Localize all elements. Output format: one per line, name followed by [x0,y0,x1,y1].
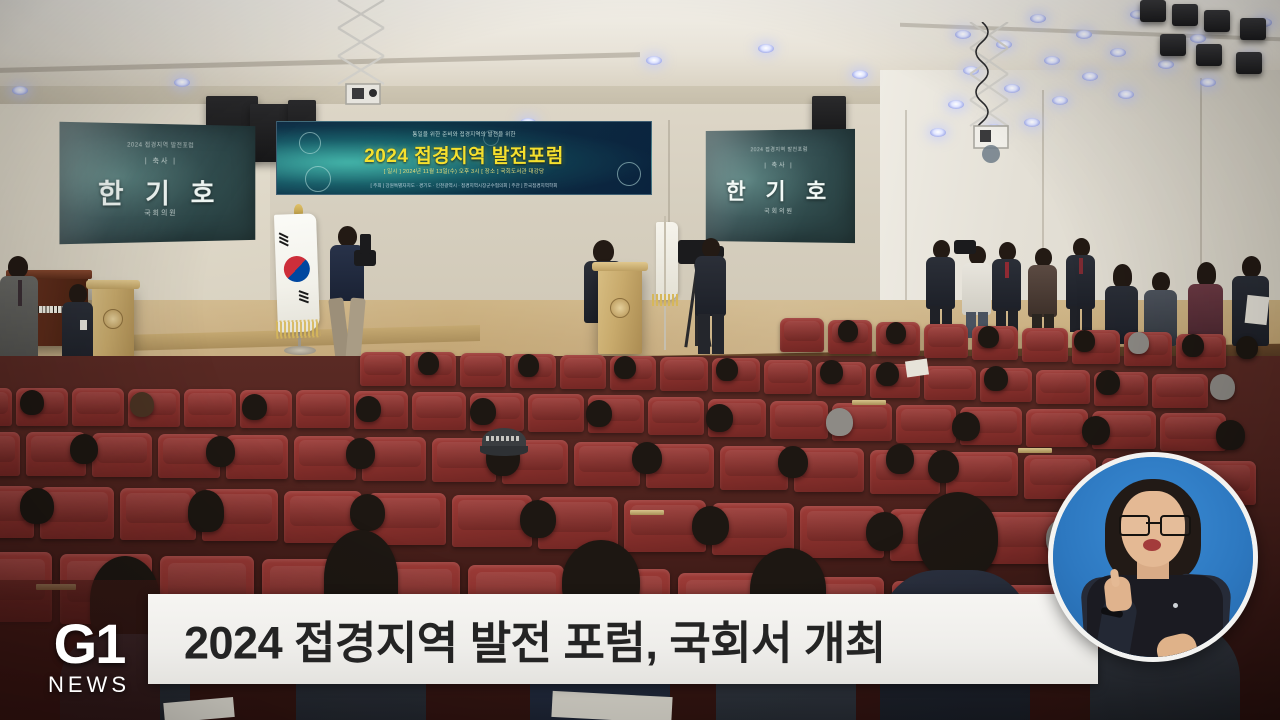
audience-head [918,492,998,580]
main-podium-emblem [610,298,630,318]
stage-light [1196,44,1222,66]
person-tie [18,280,22,306]
downlight [1190,34,1206,43]
stage-light [1172,4,1198,26]
seat [1026,409,1088,447]
audience-head [242,394,267,420]
audience-head [1074,330,1095,352]
audience-head [778,446,808,478]
person-head [593,240,614,263]
person-standing-staff [962,246,992,336]
interpreter-lapel-pin [1173,603,1178,608]
audience-head [716,358,738,381]
network-logo: G1 NEWS [30,618,148,698]
seat [226,435,288,479]
person-body [962,263,991,315]
handout-paper [905,359,929,378]
side-screen-right-section: | 축사 | [706,160,855,170]
downlight [1118,90,1134,99]
seat [924,366,976,400]
audience-head [886,444,914,474]
audience-head [1096,370,1120,395]
downlight [1044,56,1060,65]
person-legs [698,314,710,354]
audience-head [1128,332,1149,354]
korean-flag [274,213,320,332]
banner-top-line: 통일을 위한 준비와 접경지역의 발전을 위한 [277,130,651,138]
stage-light [1160,34,1186,56]
person-head [1197,262,1216,286]
side-podium [92,286,134,358]
cap-brim [480,446,528,456]
downlight [1030,14,1046,23]
seat [92,433,152,477]
seat [296,390,350,428]
downlight [1052,96,1068,105]
audience-head [692,506,729,545]
audience-head [350,494,385,531]
downlight [1110,48,1126,57]
seat [560,355,606,389]
audience-head [20,488,54,524]
seat [0,432,20,476]
audience-head [1210,374,1235,400]
audience-head [470,398,496,425]
downlight [930,128,946,137]
person-head [1152,272,1170,292]
scissor-lift-right [962,22,1020,170]
sign-language-interpreter-bubble [1048,452,1258,662]
side-screen-right-title: 국회의원 [706,206,855,216]
main-podium-top [592,262,648,271]
audience-head [1236,336,1258,359]
seat-number-plate [852,400,886,405]
audience-head [952,412,980,441]
person-body [695,256,726,316]
scissor-lift-left-svg [332,0,392,110]
audience-head [20,390,44,415]
seat [528,394,584,432]
camera-lens [360,234,371,254]
seat [120,488,196,540]
seat [460,353,506,387]
downlight [1076,30,1092,39]
stage-light [1236,52,1262,74]
audience-head [1216,420,1245,450]
seat [360,352,406,386]
person-legs [1082,306,1092,332]
side-podium-top [86,280,140,289]
stage-light [1240,18,1266,40]
audience-head [886,322,906,344]
glasses-bridge [1146,522,1160,524]
person-body [1028,265,1057,317]
downlight [12,86,28,95]
seat [0,388,12,426]
audience-head [206,436,235,467]
side-podium-emblem [103,309,123,329]
main-stage-banner: 통일을 위한 준비와 접경지역의 발전을 위한 2024 접경지역 발전포럼 [… [276,121,652,195]
downlight [174,78,190,87]
downlight [1024,118,1040,127]
side-screen-left-event: 2024 접경지역 발전포럼 [59,138,255,150]
person-head [69,284,87,304]
person-camera-operator [694,238,728,354]
audience-head [614,356,636,379]
glasses-lens-left [1119,515,1150,536]
headline-text: 2024 접경지역 발전 포럼, 국회서 개최 [184,607,886,672]
person-legs [1070,306,1080,332]
audience-head [928,450,959,483]
person-badge [80,320,87,330]
seat-number-plate [630,510,664,515]
seat [412,392,466,430]
audience-head [706,404,733,432]
cap-text [486,436,520,441]
person-photographer-stage [326,226,372,362]
downlight [758,44,774,53]
person-head [702,238,720,258]
person-head [338,226,357,247]
downlight [1158,60,1174,69]
person-head [1113,264,1132,288]
downlight [1082,72,1098,81]
audience-head [356,396,381,422]
side-screen-right-event: 2024 접경지역 발전포럼 [706,145,855,153]
handout-paper [1245,295,1270,325]
person-standing-staff [1028,248,1058,336]
glasses-lens-right [1160,515,1191,536]
person-legs [712,314,724,354]
side-screen-left: 2024 접경지역 발전포럼 | 축사 | 한 기 호 국회의원 [59,122,255,245]
person-standing-staff [1066,238,1096,332]
audience-head [520,500,556,538]
audience-head [632,442,662,474]
person-standing-staff [992,242,1022,334]
downlight [852,70,868,79]
downlight [1200,78,1216,87]
side-screen-right: 2024 접경지역 발전포럼 | 축사 | 한 기 호 국회의원 [706,129,855,243]
person-tie [1079,258,1083,274]
audience-member-with-cap [478,428,534,498]
audience-head [826,408,853,436]
seat [1036,370,1090,404]
scissor-lift-right-svg [962,22,1020,170]
audience-head [346,438,375,469]
seat [184,389,236,427]
seat [660,357,708,391]
audience-head [188,490,224,532]
audience-head [518,354,539,377]
seat [764,360,812,394]
seat [924,324,968,358]
person-head [8,256,28,278]
seat [780,318,824,352]
flag-stand [284,346,316,355]
audience-head [876,362,899,386]
main-podium [598,268,642,354]
seat [72,388,124,426]
camera-body [954,240,976,254]
seat [1152,374,1208,408]
headline-bar: 2024 접경지역 발전 포럼, 국회서 개최 [148,594,1098,684]
person-body [926,257,955,309]
seat [648,397,704,435]
person-standing-staff [926,240,956,332]
logo-g1-text: G1 [30,618,148,670]
side-screen-left-title: 국회의원 [59,207,255,219]
audience-head [984,366,1008,391]
side-screen-left-section: | 축사 | [59,155,255,167]
banner-sponsor-line: [ 주최 ] 강원특별자치도 · 경기도 · 인천광역시 · 접경지역시장군수협… [277,183,651,189]
seat [1022,328,1068,362]
banner-info-line: [ 일시 ] 2024년 11월 13일(수) 오후 3시 [ 장소 ] 국회도… [277,167,651,175]
banner-headline: 2024 접경지역 발전포럼 [277,141,651,168]
audience-head [820,360,843,384]
person-head [1242,256,1261,278]
stage-light [1204,10,1230,32]
interpreter-mouth [1143,539,1161,551]
side-screen-right-speaker: 한 기 호 [706,174,855,207]
audience-head [130,392,154,417]
person-left-gray-suit [0,256,40,372]
side-screen-left-speaker: 한 기 호 [59,172,255,212]
audience-head [1082,416,1110,445]
seat [896,405,956,443]
secondary-flag-pole [664,216,666,350]
audience-head [418,352,439,375]
logo-news-text: NEWS [30,672,148,698]
audience-head [838,320,858,342]
audience-head [70,434,98,464]
audience-head [978,326,999,348]
seat [574,442,640,486]
seat [770,401,828,439]
audience-head [586,400,612,427]
broadcast-frame: 2024 접경지역 발전포럼 | 축사 | 한 기 호 국회의원 2024 접경… [0,0,1280,720]
person-tie [1005,262,1009,278]
downlight [646,56,662,65]
taeguk-symbol [283,256,310,283]
stage-light [1140,0,1166,22]
scissor-lift-left [332,0,392,110]
flag-fringe [276,319,321,339]
seat-number-plate [1018,448,1052,453]
audience-head [1182,334,1204,357]
glasses-icon [1119,515,1187,532]
